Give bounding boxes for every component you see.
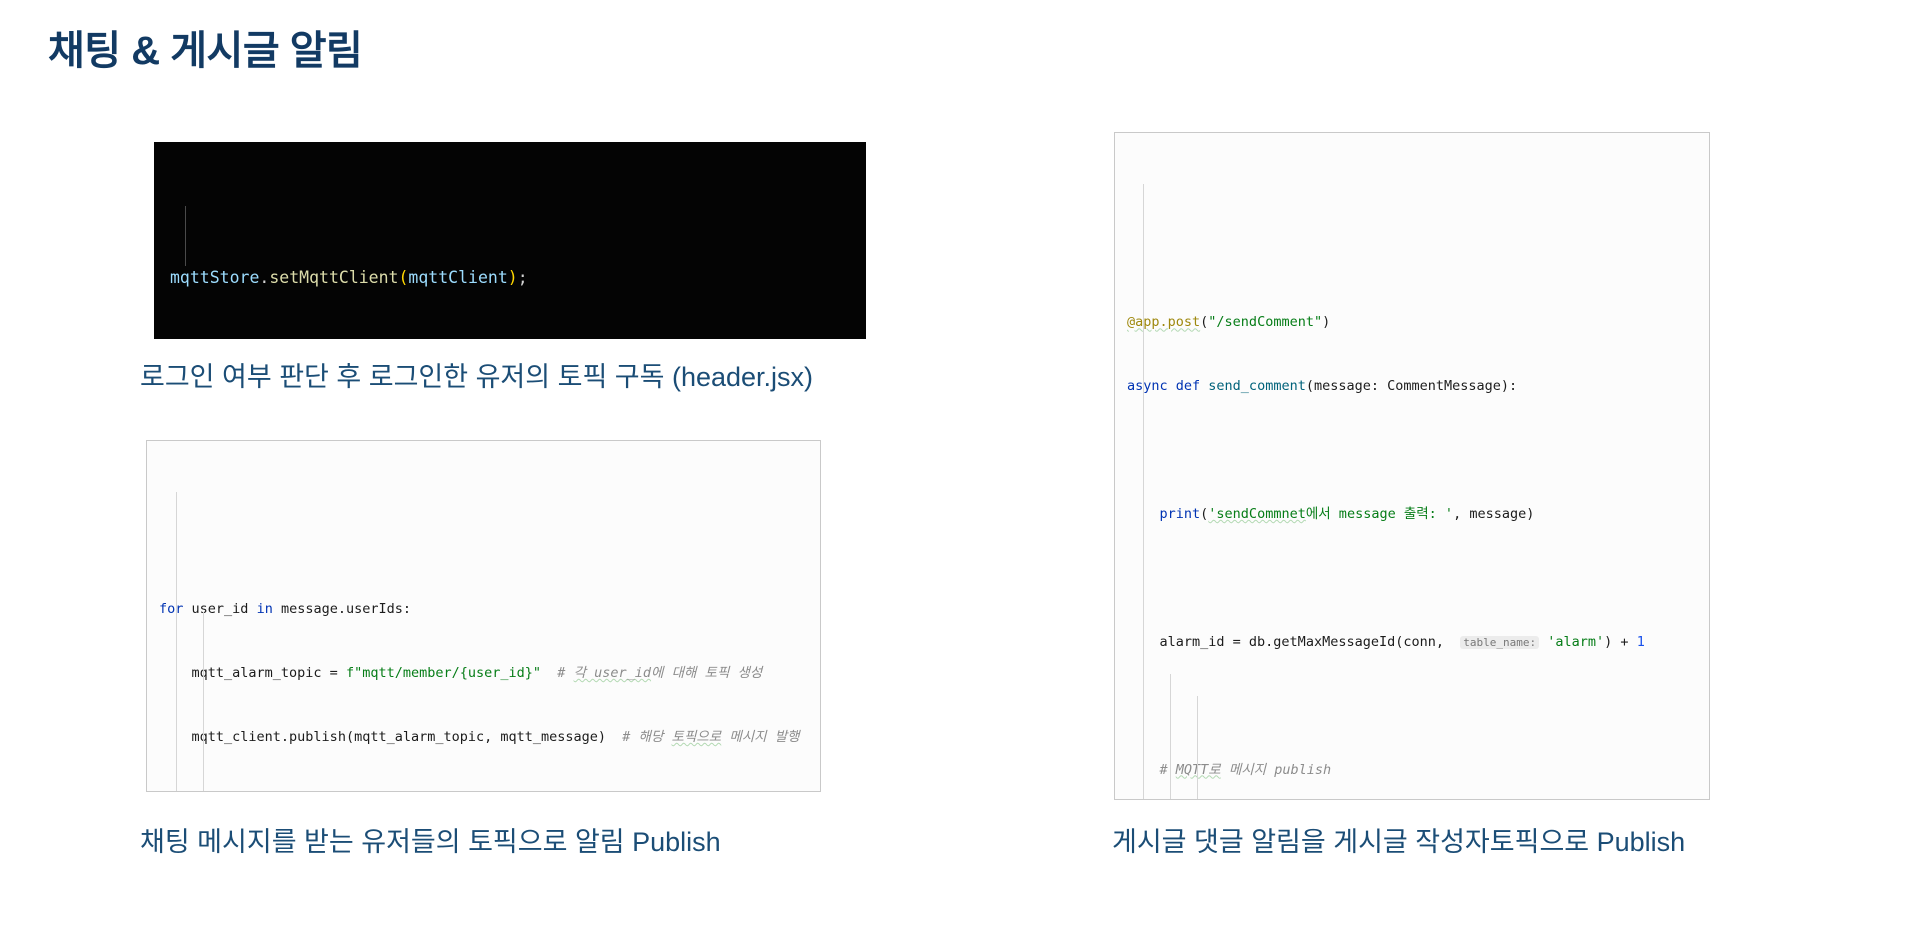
code-block-chat-alarm-publish: for user_id in message.userIds: mqtt_ala… bbox=[146, 440, 821, 792]
indent-guide bbox=[1197, 696, 1198, 800]
code-line: @app.post("/sendComment") bbox=[1127, 312, 1699, 333]
code-line: alarm_id = db.getMaxMessageId(conn, tabl… bbox=[1127, 632, 1699, 653]
code-block-send-comment: @app.post("/sendComment") async def send… bbox=[1114, 132, 1710, 800]
code-line: mqttStore.setMqttClient(mqttClient); bbox=[154, 264, 866, 291]
code-line: for user_id in message.userIds: bbox=[159, 599, 810, 620]
code-line: print('sendCommnet에서 message 출력: ', mess… bbox=[1127, 504, 1699, 525]
code-line bbox=[159, 791, 810, 792]
caption-header-jsx: 로그인 여부 판단 후 로그인한 유저의 토픽 구독 (header.jsx) bbox=[140, 355, 813, 394]
indent-guide bbox=[203, 612, 204, 792]
code-line: mqtt_client.publish(mqtt_alarm_topic, mq… bbox=[159, 727, 810, 748]
indent-guide bbox=[1170, 674, 1171, 800]
indent-guide bbox=[176, 492, 177, 792]
code-line bbox=[1127, 568, 1699, 589]
code-block-header-jsx: mqttStore.setMqttClient(mqttClient); mqt… bbox=[154, 142, 866, 339]
caption-chat-alarm-publish: 채팅 메시지를 받는 유저들의 토픽으로 알림 Publish bbox=[140, 820, 721, 859]
indent-guide bbox=[185, 206, 186, 266]
indent-guide bbox=[1143, 184, 1144, 800]
code-line: mqtt_alarm_topic = f"mqtt/member/{user_i… bbox=[159, 663, 810, 684]
page-title: 채팅 & 게시글 알림 bbox=[48, 18, 362, 76]
code-line: async def send_comment(message: CommentM… bbox=[1127, 376, 1699, 397]
caption-send-comment: 게시글 댓글 알림을 게시글 작성자토픽으로 Publish bbox=[1112, 820, 1685, 859]
code-line: # MQTT로 메시지 publish bbox=[1127, 760, 1699, 781]
slide-root: 채팅 & 게시글 알림 mqttStore.setMqttClient(mqtt… bbox=[0, 0, 1919, 950]
code-line bbox=[1127, 696, 1699, 717]
code-line bbox=[1127, 440, 1699, 461]
